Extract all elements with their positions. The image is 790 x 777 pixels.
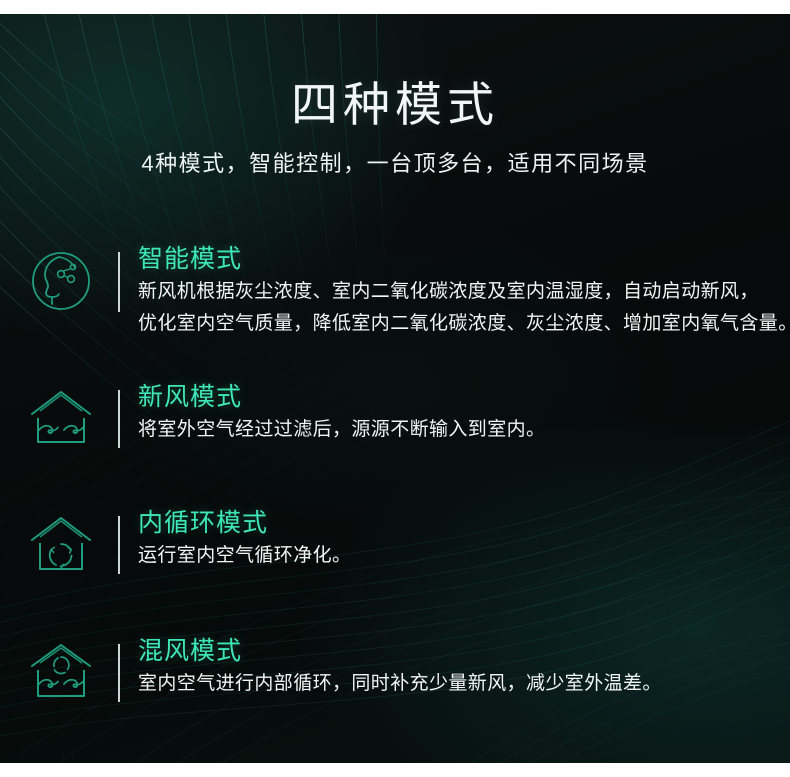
house-recirculate-icon	[22, 510, 100, 580]
mode-description-line: 将室外空气经过过滤后，源源不断输入到室内。	[138, 414, 790, 446]
mode-text-block: 内循环模式 运行室内空气循环净化。	[138, 506, 790, 572]
page-subtitle: 4种模式，智能控制，一台顶多台，适用不同场景	[0, 147, 790, 181]
page-root: 四种模式 4种模式，智能控制，一台顶多台，适用不同场景 智能模式	[0, 0, 790, 777]
mode-divider	[118, 644, 120, 702]
mode-row: 智能模式 新风机根据灰尘浓度、室内二氧化碳浓度及室内温湿度，自动启动新风， 优化…	[22, 242, 790, 340]
mode-description-line: 新风机根据灰尘浓度、室内二氧化碳浓度及室内温湿度，自动启动新风，	[138, 276, 790, 308]
mode-heading: 新风模式	[138, 380, 790, 414]
mode-divider	[118, 516, 120, 574]
mode-heading: 智能模式	[138, 242, 790, 276]
mode-heading: 混风模式	[138, 634, 790, 668]
mode-row: 内循环模式 运行室内空气循环净化。	[22, 506, 790, 580]
mode-row: 混风模式 室内空气进行内部循环，同时补充少量新风，减少室外温差。	[22, 634, 790, 708]
mode-heading: 内循环模式	[138, 506, 790, 540]
mode-description-line: 运行室内空气循环净化。	[138, 540, 790, 572]
page-title: 四种模式	[0, 76, 790, 134]
mode-description-line: 优化室内空气质量，降低室内二氧化碳浓度、灰尘浓度、增加室内氧气含量。	[138, 308, 790, 340]
smart-brain-circle-icon	[22, 246, 100, 316]
mode-text-block: 新风模式 将室外空气经过过滤后，源源不断输入到室内。	[138, 380, 790, 446]
mode-text-block: 智能模式 新风机根据灰尘浓度、室内二氧化碳浓度及室内温湿度，自动启动新风， 优化…	[138, 242, 790, 340]
mode-row: 新风模式 将室外空气经过过滤后，源源不断输入到室内。	[22, 380, 790, 454]
mode-text-block: 混风模式 室内空气进行内部循环，同时补充少量新风，减少室外温差。	[138, 634, 790, 700]
mode-description-line: 室内空气进行内部循环，同时补充少量新风，减少室外温差。	[138, 668, 790, 700]
mode-divider	[118, 390, 120, 448]
mode-divider	[118, 252, 120, 312]
house-fresh-air-icon	[22, 384, 100, 454]
house-mixed-air-icon	[22, 638, 100, 708]
hero-panel: 四种模式 4种模式，智能控制，一台顶多台，适用不同场景 智能模式	[0, 14, 790, 763]
